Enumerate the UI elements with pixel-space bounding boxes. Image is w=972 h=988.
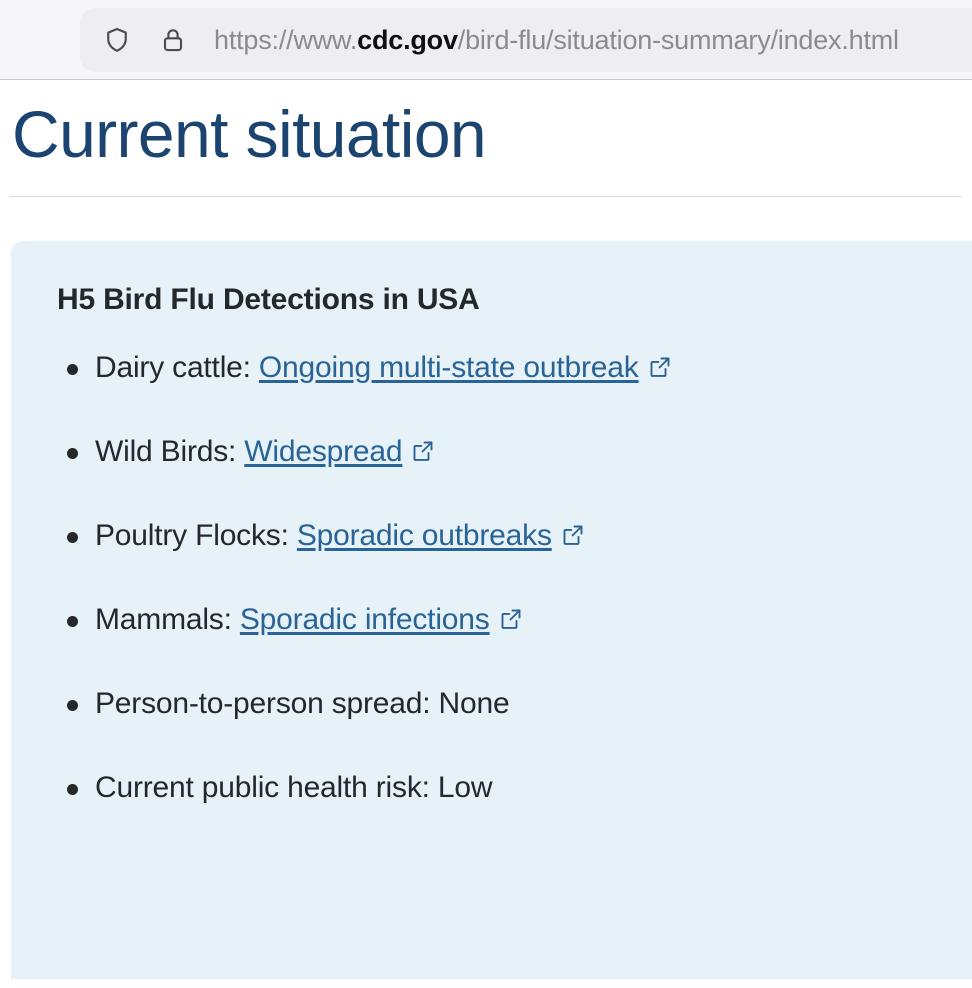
- list-item-link[interactable]: Sporadic outbreaks: [297, 519, 552, 552]
- bullet-point-icon: [67, 784, 78, 795]
- list-item: Person-to-person spread: None: [11, 683, 972, 725]
- bullet-point-icon: [67, 616, 78, 627]
- url-prefix: https://www.: [214, 25, 357, 55]
- external-link-icon[interactable]: [499, 607, 523, 631]
- list-item-link[interactable]: Sporadic infections: [240, 603, 490, 636]
- detections-panel: H5 Bird Flu Detections in USA Dairy catt…: [11, 241, 972, 979]
- list-item-label: Dairy cattle:: [95, 351, 259, 384]
- list-item-label: Wild Birds:: [95, 435, 244, 468]
- browser-toolbar: https://www.cdc.gov/bird-flu/situation-s…: [0, 0, 972, 80]
- bullet-point-icon: [67, 448, 78, 459]
- url-path: /bird-flu/situation-summary/index.html: [458, 25, 899, 55]
- title-divider: [10, 196, 962, 197]
- external-link-icon[interactable]: [648, 355, 672, 379]
- list-item: Current public health risk: Low: [11, 767, 972, 809]
- lock-icon[interactable]: [158, 24, 188, 56]
- list-item: Wild Birds: Widespread: [11, 431, 972, 473]
- url-text[interactable]: https://www.cdc.gov/bird-flu/situation-s…: [214, 25, 899, 56]
- shield-icon[interactable]: [102, 24, 132, 56]
- list-item-label: Poultry Flocks:: [95, 519, 297, 552]
- bullet-point-icon: [67, 364, 78, 375]
- list-item-link[interactable]: Ongoing multi-state outbreak: [259, 351, 639, 384]
- list-item-label: Person-to-person spread: None: [95, 687, 509, 720]
- bullet-point-icon: [67, 532, 78, 543]
- bullet-point-icon: [67, 700, 78, 711]
- page-title: Current situation: [0, 80, 972, 174]
- page-body: Current situation H5 Bird Flu Detections…: [0, 80, 972, 988]
- list-item: Poultry Flocks: Sporadic outbreaks: [11, 515, 972, 557]
- list-item: Dairy cattle: Ongoing multi-state outbre…: [11, 347, 972, 389]
- external-link-icon[interactable]: [561, 523, 585, 547]
- list-item-label: Current public health risk: Low: [95, 771, 492, 804]
- list-item-link[interactable]: Widespread: [244, 435, 402, 468]
- url-domain: cdc.gov: [357, 25, 458, 55]
- panel-heading: H5 Bird Flu Detections in USA: [57, 283, 972, 317]
- list-item: Mammals: Sporadic infections: [11, 599, 972, 641]
- detections-list: Dairy cattle: Ongoing multi-state outbre…: [11, 347, 972, 809]
- external-link-icon[interactable]: [411, 439, 435, 463]
- address-bar[interactable]: https://www.cdc.gov/bird-flu/situation-s…: [80, 8, 972, 72]
- list-item-label: Mammals:: [95, 603, 240, 636]
